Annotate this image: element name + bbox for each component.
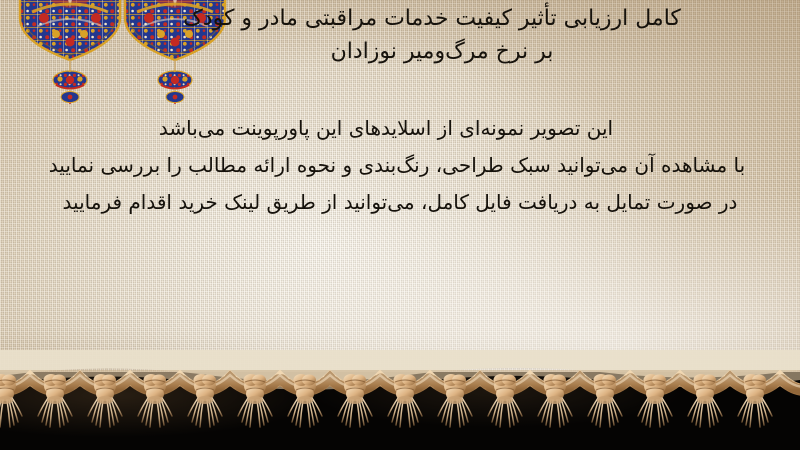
slide-body: این تصویر نمونه‌ای از اسلایدهای این پاور… [8, 110, 792, 221]
slide-title: کامل ارزیابی تأثیر کیفیت خدمات مراقبتی م… [142, 2, 782, 68]
title-line-2: بر نرخ مرگ‌ومیر نوزادان [142, 35, 782, 68]
body-line-2: با مشاهده آن می‌توانید سبک طراحی، رنگ‌بن… [8, 147, 792, 184]
bottom-black-band [0, 372, 800, 450]
body-line-3: در صورت تمایل به دریافت فایل کامل، می‌تو… [8, 184, 792, 221]
powerpoint-slide: کامل ارزیابی تأثیر کیفیت خدمات مراقبتی م… [0, 0, 800, 450]
body-line-1: این تصویر نمونه‌ای از اسلایدهای این پاور… [8, 110, 792, 147]
title-line-1: کامل ارزیابی تأثیر کیفیت خدمات مراقبتی م… [142, 2, 782, 35]
